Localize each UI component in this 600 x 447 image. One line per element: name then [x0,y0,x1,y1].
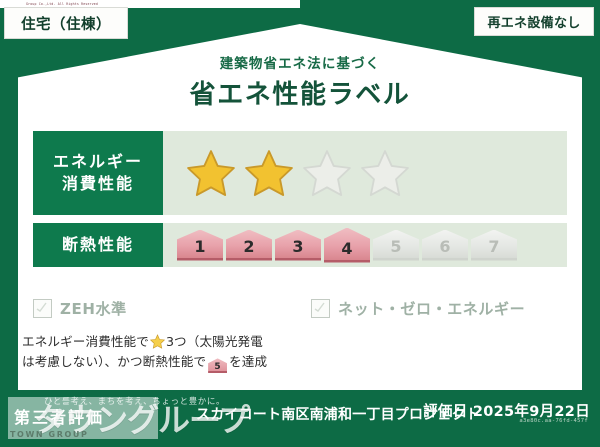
third-party-evaluation-label: 第三者評価 [14,404,104,428]
label-subtitle: 建築物省エネ法に基づく [0,52,600,72]
net-zero-energy-label: ネット・ゼロ・エネルギー [338,298,525,319]
achievement-note: エネルギー消費性能で3つ（太陽光発電 は考慮しない）、かつ断熱性能で5を達成 [22,332,322,373]
checkbox-unchecked-icon[interactable] [311,299,330,318]
checkbox-unchecked-icon[interactable] [33,299,52,318]
insulation-grade-5: 5 [373,230,419,261]
energy-label-line1: エネルギー [53,151,143,173]
energy-performance-label: Group Co.,Ltd. All Rights Reserved 住宅（住棟… [0,0,600,447]
note-part1: エネルギー消費性能で [22,334,149,349]
label-footer: 第三者評価 スカイコート南区南浦和一丁目プロジェクト 評価日 2025年9月22… [0,390,600,447]
insulation-grade-3: 3 [275,230,321,261]
zeh-standard-check[interactable]: ZEH水準 [33,298,311,319]
performance-rows: エネルギー 消費性能 断熱性能 1234567 [33,131,567,275]
evaluation-date-label: 評価日 [423,404,467,420]
star-icon [150,334,165,349]
star-icon-empty [359,148,411,198]
insulation-grade-2: 2 [226,230,272,261]
star-icon-empty [301,148,353,198]
standards-checks: ZEH水準 ネット・ゼロ・エネルギー [33,298,567,319]
energy-label-line2: 消費性能 [62,173,134,195]
net-zero-energy-check[interactable]: ネット・ゼロ・エネルギー [311,298,525,319]
insulation-grade-4: 4 [324,228,370,263]
page-title: 省エネ性能ラベル [0,74,600,111]
energy-performance-label-panel: エネルギー 消費性能 [33,131,163,215]
insulation-performance-label-panel: 断熱性能 [33,223,163,267]
note-part3: は考慮しない）、かつ断熱性能で [22,354,206,369]
star-icon-filled [243,148,295,198]
insulation-grade-scale: 1234567 [163,223,567,267]
energy-performance-row: エネルギー 消費性能 [33,131,567,215]
note-part4: を達成 [229,354,267,369]
insulation-grade-7: 7 [471,230,517,261]
insulation-grade-1: 1 [177,230,223,261]
evaluation-code: a3e80c.aa-76fd-457f [519,418,588,424]
note-part2: 3つ（太陽光発電 [166,334,263,349]
insulation-performance-row: 断熱性能 1234567 [33,223,567,267]
star-icon-filled [185,148,237,198]
insulation-label: 断熱性能 [62,234,134,256]
insulation-grade-6: 6 [422,230,468,261]
star-rating [163,131,567,215]
grade-badge-icon: 5 [208,358,227,373]
renewable-equipment-tag: 再エネ設備なし [474,7,594,36]
building-type-tag: 住宅（住棟） [4,7,128,39]
zeh-standard-label: ZEH水準 [60,298,127,319]
